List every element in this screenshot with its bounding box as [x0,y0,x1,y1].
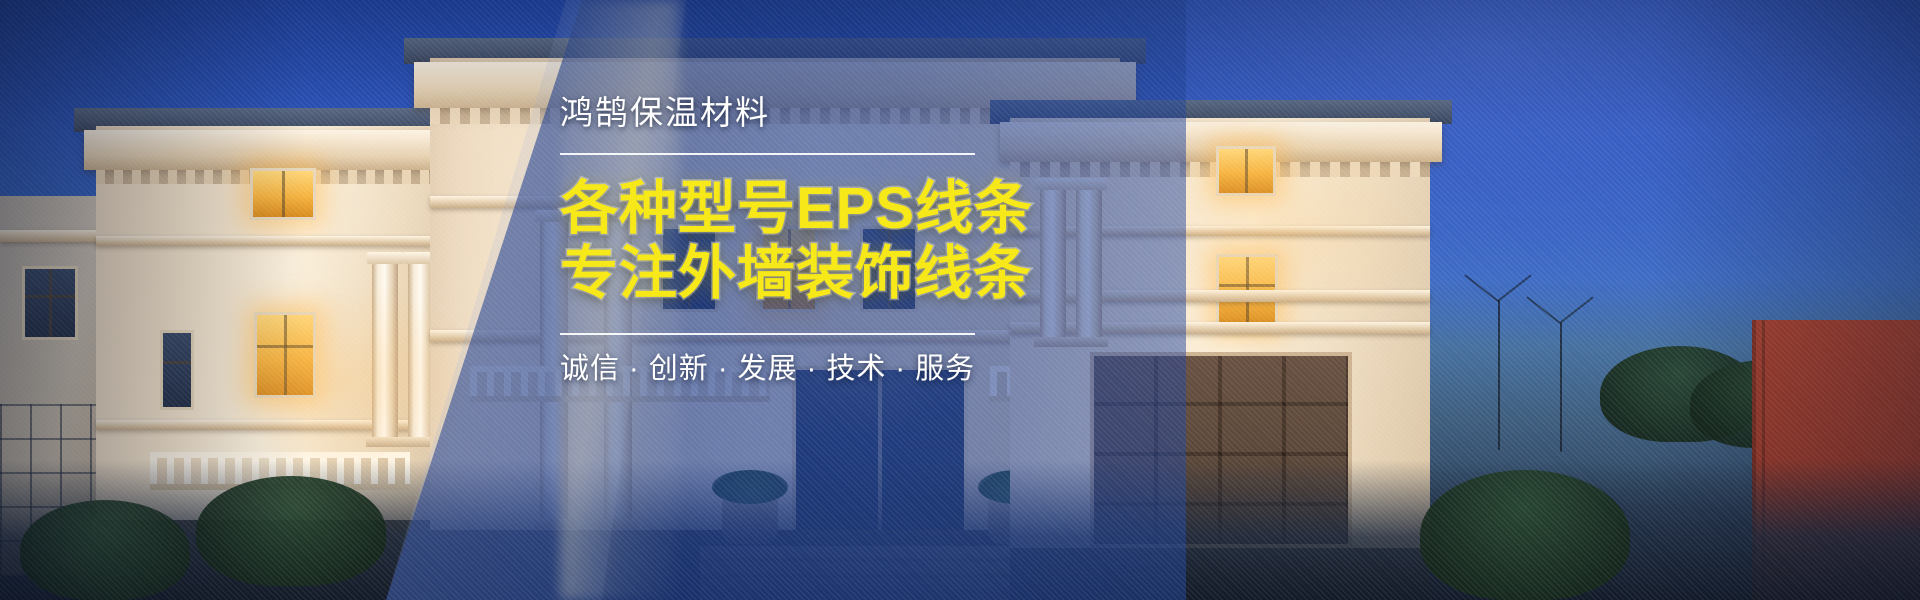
column [1076,188,1102,338]
shrub [1420,470,1630,600]
shrub [20,500,190,600]
company-name: 鸿鹄保温材料 [560,96,1060,129]
window [22,266,78,340]
window [160,330,194,410]
column [372,262,398,438]
headline: 各种型号EPS线条 专注外墙装饰线条 [560,177,1060,307]
string-course [96,236,442,246]
window-lit [250,168,316,220]
bare-tree-icon [1560,322,1562,452]
left-wing-cornice [84,130,454,170]
tagline: 诚信 · 创新 · 发展 · 技术 · 服务 [560,355,1060,384]
shrub [196,476,386,586]
string-course [1010,322,1430,334]
divider-rule-bottom [560,333,975,335]
string-course [1010,226,1430,236]
window-lit [254,312,316,398]
window-lit [1216,146,1276,196]
string-course [1010,290,1430,302]
banner-text-block: 鸿鹄保温材料 各种型号EPS线条 专注外墙装饰线条 诚信 · 创新 · 发展 ·… [560,96,1060,384]
cornice-band [0,230,104,242]
bare-tree-icon [1498,300,1500,450]
hero-banner: 鸿鹄保温材料 各种型号EPS线条 专注外墙装饰线条 诚信 · 创新 · 发展 ·… [0,0,1920,600]
divider-rule-top [560,153,975,155]
headline-line-2: 专注外墙装饰线条 [560,242,1060,307]
headline-line-1: 各种型号EPS线条 [560,176,1033,241]
